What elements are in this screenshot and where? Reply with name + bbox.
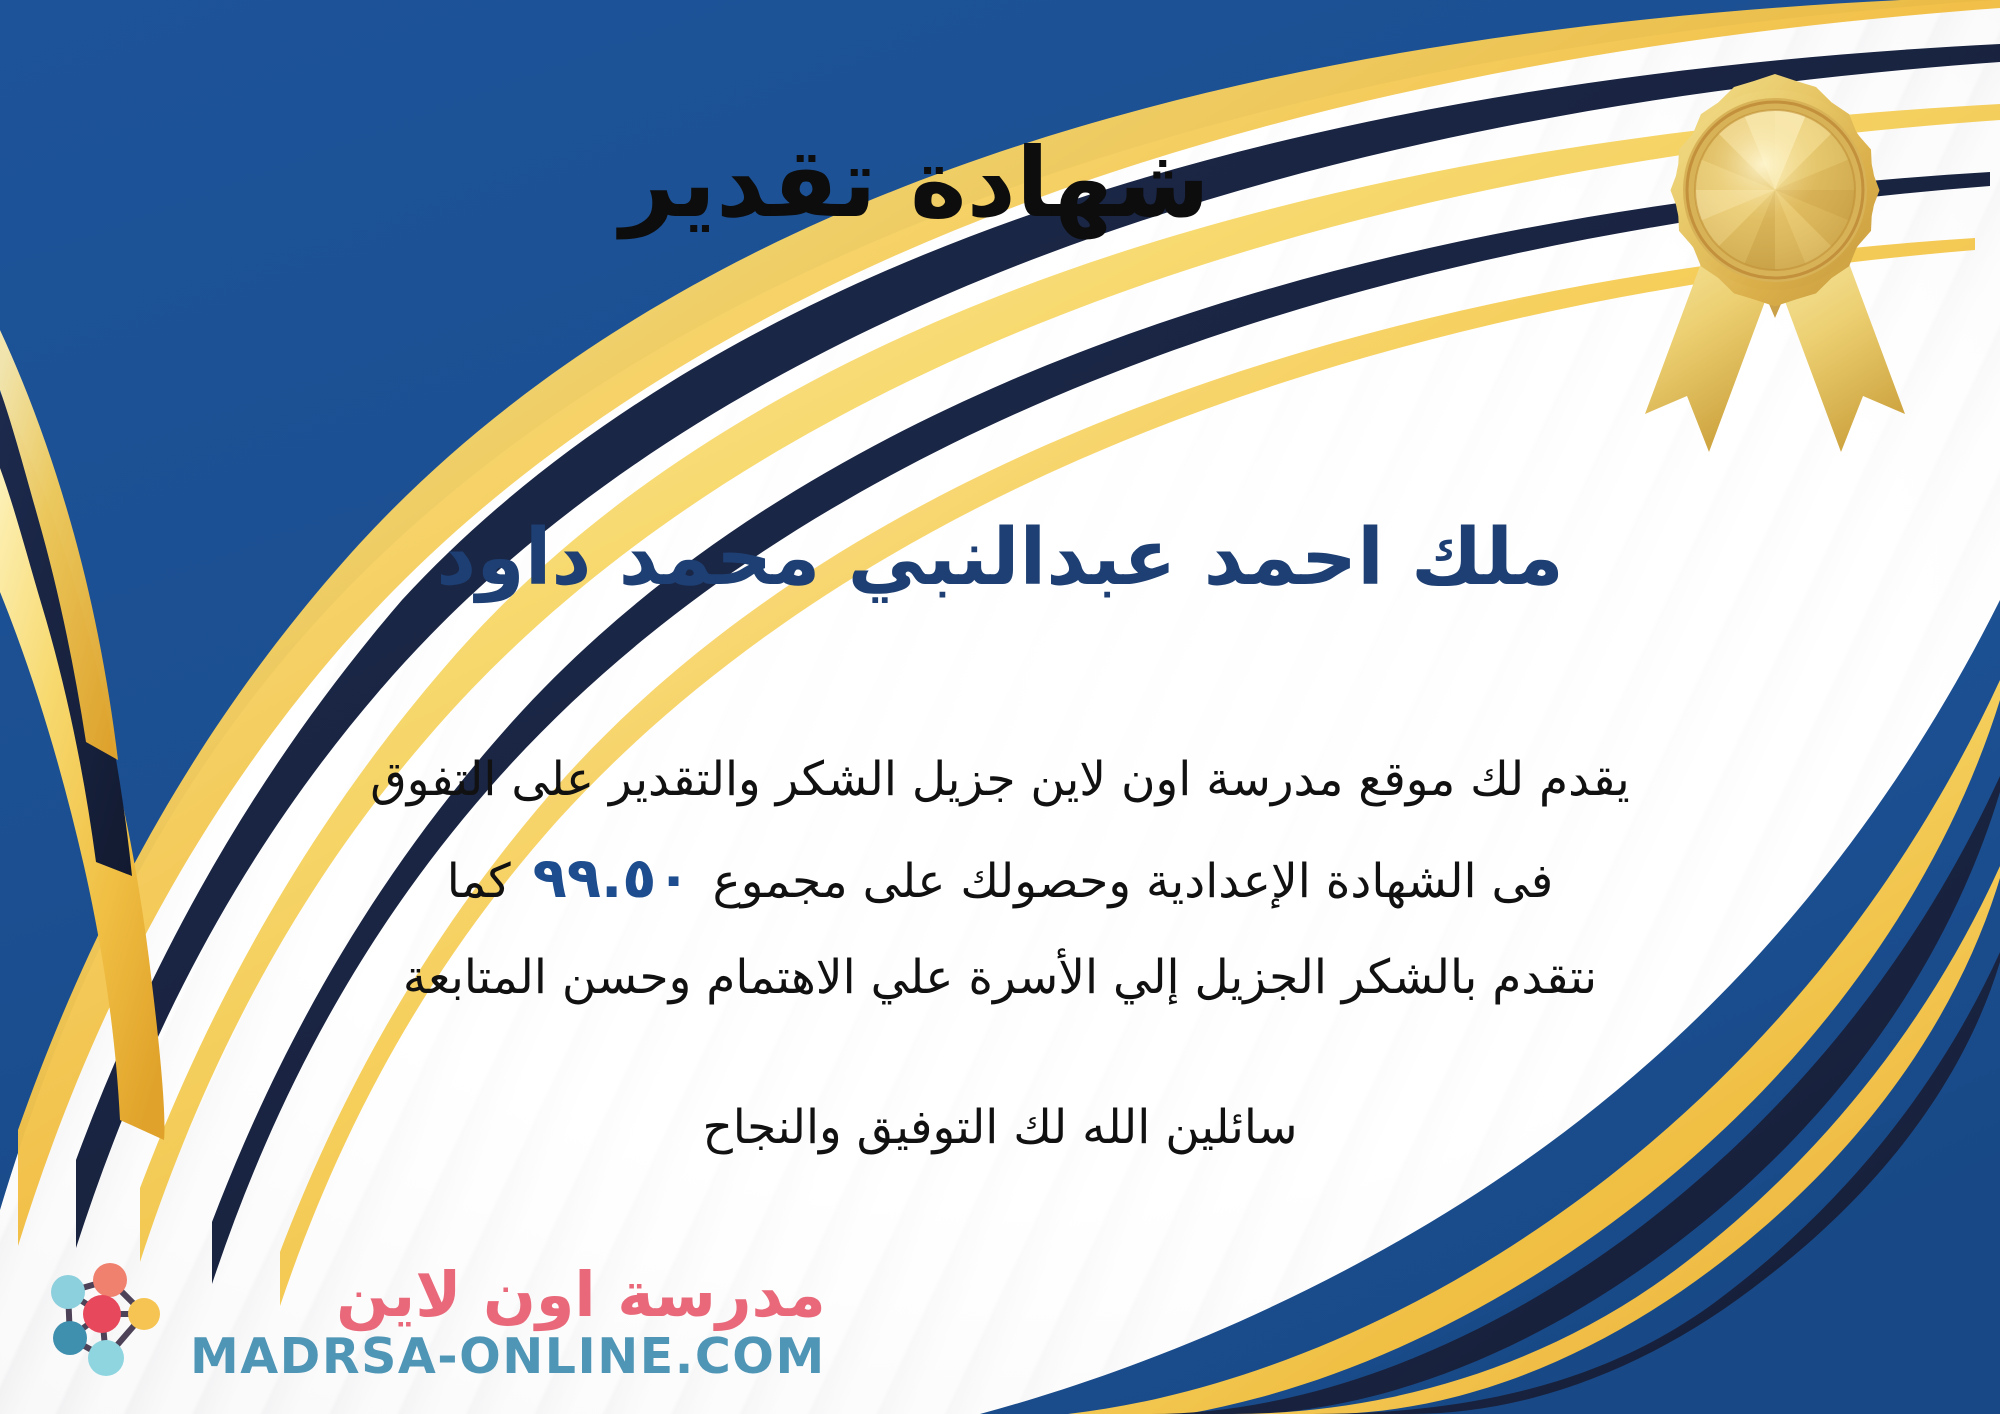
certificate-canvas: شهادة تقدير ملك احمد عبدالنبي محمد داود … xyxy=(0,0,2000,1414)
node-dark-teal xyxy=(53,1321,87,1355)
body-line-2-suffix: كما xyxy=(447,854,511,909)
node-light-blue xyxy=(51,1275,85,1309)
node-red xyxy=(83,1295,121,1333)
body-line-2: فى الشهادة الإعدادية وحصولك على مجموع٩٩.… xyxy=(40,825,1960,933)
brand-logo[interactable]: مدرسة اون لاين MADRSA-ONLINE.COM xyxy=(26,1254,826,1390)
brand-arabic-name: مدرسة اون لاين xyxy=(336,1264,826,1326)
certificate-title: شهادة تقدير xyxy=(0,130,2000,238)
closing-line: سائلين الله لك التوفيق والنجاح xyxy=(0,1090,2000,1165)
node-coral xyxy=(93,1263,127,1297)
body-line-1: يقدم لك موقع مدرسة اون لاين جزيل الشكر و… xyxy=(40,735,1960,825)
node-cyan xyxy=(88,1340,124,1376)
certificate-body: يقدم لك موقع مدرسة اون لاين جزيل الشكر و… xyxy=(40,735,1960,1023)
node-amber xyxy=(128,1298,160,1330)
brand-website: MADRSA-ONLINE.COM xyxy=(190,1332,826,1381)
recipient-name: ملك احمد عبدالنبي محمد داود xyxy=(0,510,2000,608)
grade-value: ٩٩.٥٠ xyxy=(511,846,713,911)
certificate-content: شهادة تقدير ملك احمد عبدالنبي محمد داود … xyxy=(0,0,2000,1414)
body-line-3: نتقدم بالشكر الجزيل إلي الأسرة علي الاهت… xyxy=(40,933,1960,1023)
body-line-2-prefix: فى الشهادة الإعدادية وحصولك على مجموع xyxy=(713,854,1554,909)
brand-text: مدرسة اون لاين MADRSA-ONLINE.COM xyxy=(190,1264,826,1381)
network-nodes-icon xyxy=(26,1254,176,1390)
